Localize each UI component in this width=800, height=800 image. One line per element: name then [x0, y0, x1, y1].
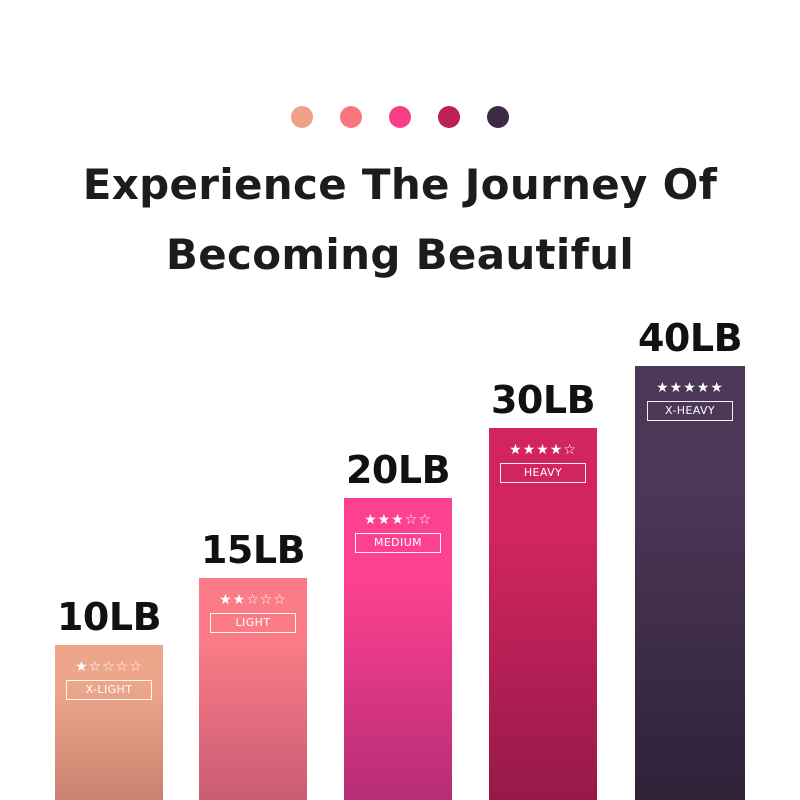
bar-group-15lb: 15LB ★★☆☆☆ LIGHT [199, 578, 307, 800]
badge-30lb: ★★★★☆ HEAVY [500, 442, 586, 483]
bar-10lb[interactable]: ★☆☆☆☆ X-LIGHT [55, 645, 163, 800]
badge-15lb: ★★☆☆☆ LIGHT [210, 592, 296, 633]
bar-group-20lb: 20LB ★★★☆☆ MEDIUM [344, 498, 452, 800]
badge-10lb: ★☆☆☆☆ X-LIGHT [66, 659, 152, 700]
bar-group-10lb: 10LB ★☆☆☆☆ X-LIGHT [55, 645, 163, 800]
bar-40lb[interactable]: ★★★★★ X-HEAVY [635, 366, 745, 800]
bar-value-label-20lb: 20LB [346, 448, 450, 492]
bar-group-30lb: 30LB ★★★★☆ HEAVY [489, 428, 597, 800]
star-rating-15lb: ★★☆☆☆ [210, 592, 296, 608]
resistance-bar-chart: 10LB ★☆☆☆☆ X-LIGHT 15LB ★★☆☆☆ LIGHT 20LB [0, 0, 800, 800]
bar-30lb[interactable]: ★★★★☆ HEAVY [489, 428, 597, 800]
bar-value-label-10lb: 10LB [57, 595, 161, 639]
level-label-30lb: HEAVY [500, 463, 586, 483]
bar-group-40lb: 40LB ★★★★★ X-HEAVY [635, 366, 745, 800]
star-rating-30lb: ★★★★☆ [500, 442, 586, 458]
level-label-20lb: MEDIUM [355, 533, 441, 553]
bar-value-label-40lb: 40LB [638, 316, 742, 360]
bar-value-label-30lb: 30LB [491, 378, 595, 422]
product-infographic: Experience The Journey Of Becoming Beaut… [0, 0, 800, 800]
level-label-15lb: LIGHT [210, 613, 296, 633]
star-rating-10lb: ★☆☆☆☆ [66, 659, 152, 675]
star-rating-20lb: ★★★☆☆ [355, 512, 441, 528]
bar-20lb[interactable]: ★★★☆☆ MEDIUM [344, 498, 452, 800]
level-label-10lb: X-LIGHT [66, 680, 152, 700]
star-rating-40lb: ★★★★★ [647, 380, 733, 396]
level-label-40lb: X-HEAVY [647, 401, 733, 421]
bar-value-label-15lb: 15LB [201, 528, 305, 572]
bar-15lb[interactable]: ★★☆☆☆ LIGHT [199, 578, 307, 800]
badge-40lb: ★★★★★ X-HEAVY [647, 380, 733, 421]
badge-20lb: ★★★☆☆ MEDIUM [355, 512, 441, 553]
